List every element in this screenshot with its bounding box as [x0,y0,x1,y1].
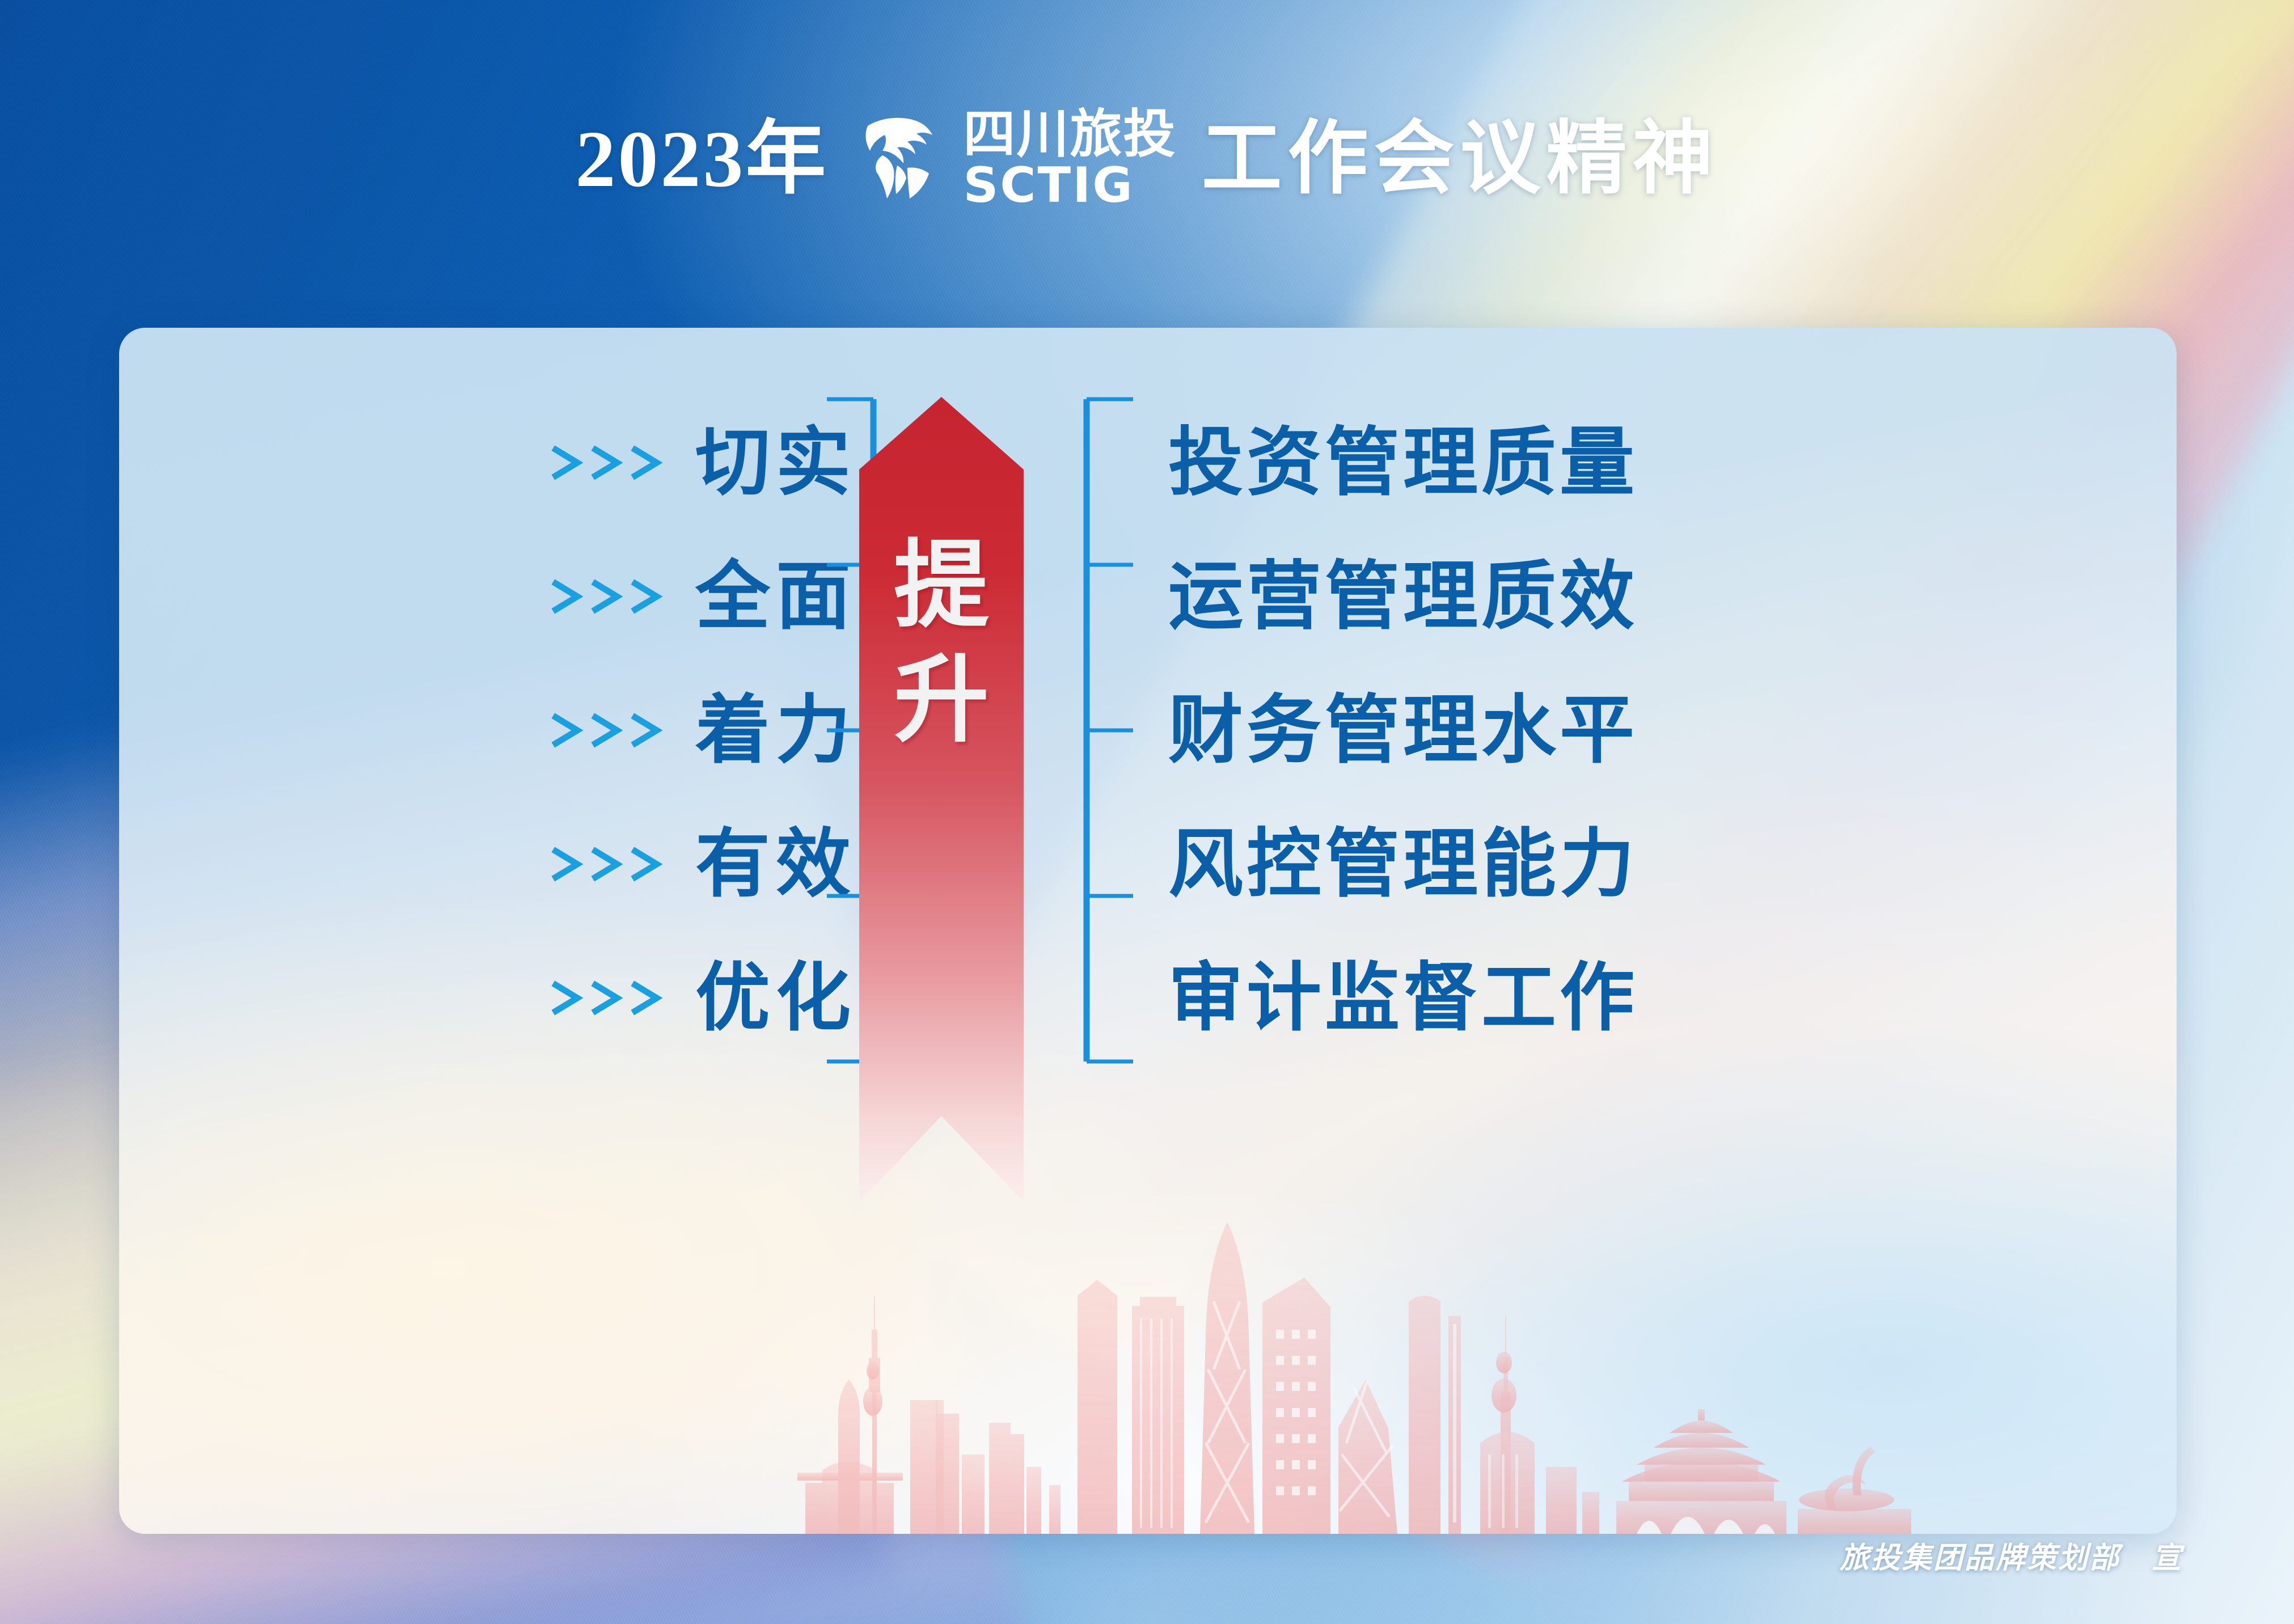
right-topic: 投资管理质量 [1168,425,1638,500]
card-content: 切实 全面 [119,328,2177,1534]
main-card: 切实 全面 [119,328,2177,1534]
triple-chevron-right-icon [550,979,669,1017]
triple-chevron-right-icon [550,712,669,749]
left-row: 全面 [159,530,856,663]
brand-logo-text: 四川旅投 SCTIG [963,109,1176,208]
header-year: 2023年 [575,119,828,199]
right-row: 审计监督工作 [1168,931,2132,1065]
right-connector-bracket [1083,396,1134,1065]
header-title: 工作会议精神 [1202,119,1719,199]
arrow-label: 提 升 [859,539,1024,748]
right-topic: 审计监督工作 [1168,961,1638,1035]
right-row: 风控管理能力 [1168,797,2132,931]
poster-root: 2023年 四川旅投 SCTIG 工作会议精神 [0,0,2294,1624]
footer-credit: 旅投集团品牌策划部 宣 [1840,1534,2183,1576]
left-row: 有效 [159,797,856,931]
triple-chevron-right-icon [550,578,669,615]
right-topic: 风控管理能力 [1168,827,1638,902]
arrow-char-bottom: 升 [894,653,989,748]
brand-name-en: SCTIG [963,163,1134,208]
poster-header: 2023年 四川旅投 SCTIG 工作会议精神 [0,0,2294,318]
left-row: 优化 [159,931,856,1065]
brand-name-cn: 四川旅投 [963,109,1176,159]
globe-panda-mark-icon [853,113,948,204]
left-row: 切实 [159,396,856,530]
right-topic: 运营管理质效 [1168,559,1638,634]
triple-chevron-right-icon [550,845,669,883]
triple-chevron-right-icon [550,444,669,481]
left-row: 着力 [159,663,856,797]
right-row: 财务管理水平 [1168,663,2132,797]
left-keyword-column: 切实 全面 [159,396,856,1065]
arrow-char-top: 提 [894,539,989,634]
right-topic: 财务管理水平 [1168,693,1638,768]
right-row: 运营管理质效 [1168,530,2132,663]
right-row: 投资管理质量 [1168,396,2132,530]
upward-arrow-shape: 提 升 [859,397,1024,1202]
right-topic-column: 投资管理质量 运营管理质效 财务管理水平 风控管理能力 审计监督工作 [1168,396,2132,1065]
brand-logo: 四川旅投 SCTIG [853,109,1176,208]
